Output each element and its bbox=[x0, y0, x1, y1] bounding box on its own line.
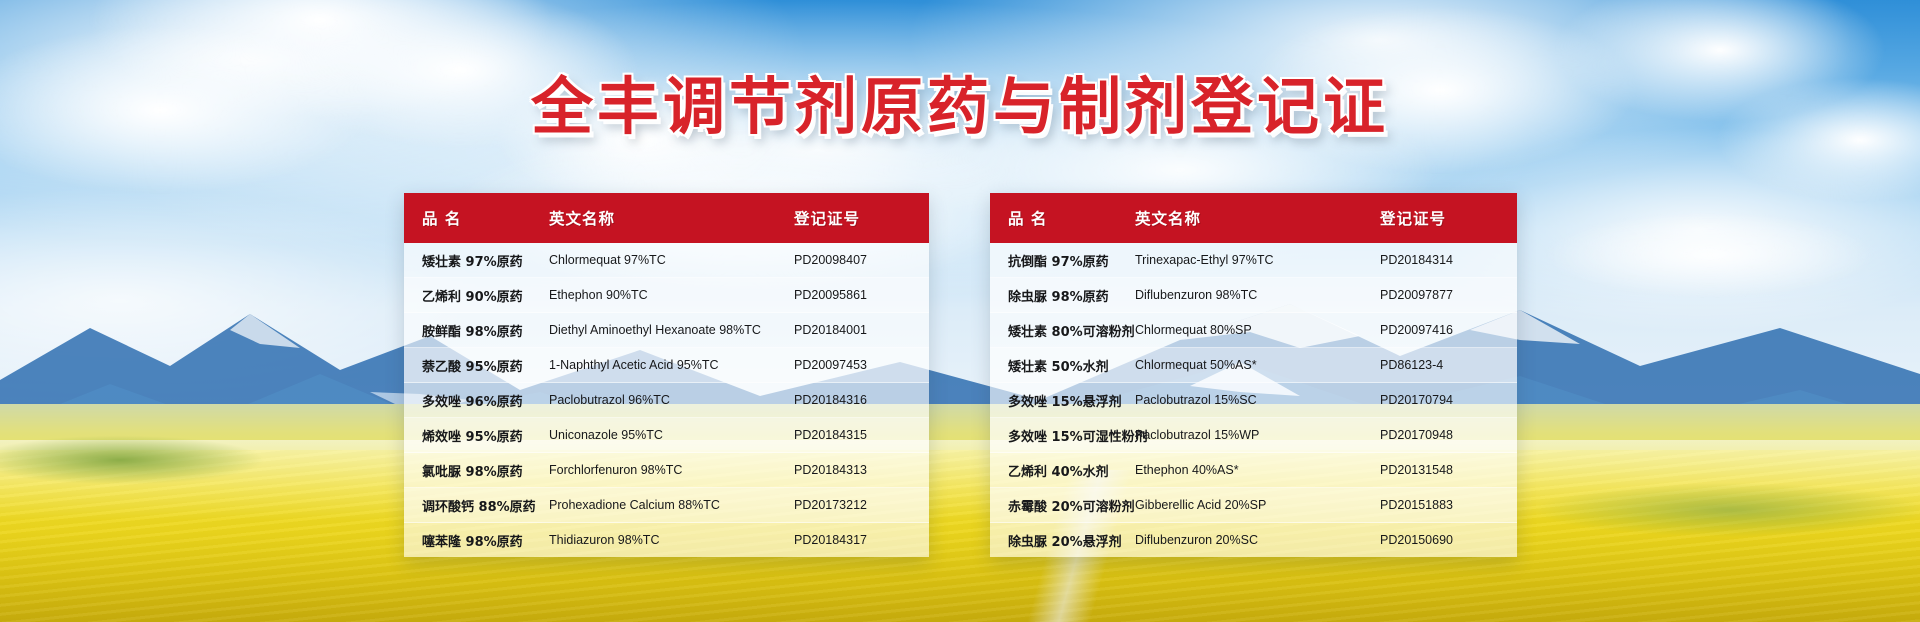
cell-product-name: 除虫脲 20%悬浮剂 bbox=[990, 531, 1135, 550]
table-left: 品 名英文名称登记证号矮壮素 97%原药Chlormequat 97%TCPD2… bbox=[404, 193, 929, 557]
cell-english-name: Diflubenzuron 20%SC bbox=[1135, 533, 1380, 547]
table-row[interactable]: 胺鲜酯 98%原药Diethyl Aminoethyl Hexanoate 98… bbox=[404, 313, 929, 348]
table-row[interactable]: 萘乙酸 95%原药1-Naphthyl Acetic Acid 95%TCPD2… bbox=[404, 348, 929, 383]
cell-product-name: 多效唑 96%原药 bbox=[404, 391, 549, 410]
cell-product-name: 矮壮素 97%原药 bbox=[404, 251, 549, 270]
cell-product-name: 矮壮素 50%水剂 bbox=[990, 356, 1135, 375]
cell-product-name: 烯效唑 95%原药 bbox=[404, 426, 549, 445]
cell-product-name: 多效唑 15%可湿性粉剂 bbox=[990, 426, 1135, 445]
column-header-name: 品 名 bbox=[404, 207, 549, 229]
cell-english-name: 1-Naphthyl Acetic Acid 95%TC bbox=[549, 358, 794, 372]
cell-english-name: Prohexadione Calcium 88%TC bbox=[549, 498, 794, 512]
cell-registration-no: PD20098407 bbox=[794, 253, 929, 267]
table-row[interactable]: 多效唑 15%悬浮剂Paclobutrazol 15%SCPD20170794 bbox=[990, 383, 1517, 418]
table-body: 抗倒酯 97%原药Trinexapac-Ethyl 97%TCPD2018431… bbox=[990, 243, 1517, 557]
table-header-row: 品 名英文名称登记证号 bbox=[990, 193, 1517, 243]
cell-product-name: 乙烯利 90%原药 bbox=[404, 286, 549, 305]
table-row[interactable]: 抗倒酯 97%原药Trinexapac-Ethyl 97%TCPD2018431… bbox=[990, 243, 1517, 278]
cell-product-name: 萘乙酸 95%原药 bbox=[404, 356, 549, 375]
cell-registration-no: PD20184316 bbox=[794, 393, 929, 407]
cell-english-name: Trinexapac-Ethyl 97%TC bbox=[1135, 253, 1380, 267]
table-row[interactable]: 多效唑 15%可湿性粉剂Paclobutrazol 15%WPPD2017094… bbox=[990, 418, 1517, 453]
table-row[interactable]: 矮壮素 50%水剂Chlormequat 50%AS*PD86123-4 bbox=[990, 348, 1517, 383]
cell-registration-no: PD20095861 bbox=[794, 288, 929, 302]
cell-registration-no: PD20170794 bbox=[1380, 393, 1515, 407]
table-header-row: 品 名英文名称登记证号 bbox=[404, 193, 929, 243]
column-header-english: 英文名称 bbox=[1135, 207, 1380, 229]
cell-registration-no: PD20184315 bbox=[794, 428, 929, 442]
cell-english-name: Ethephon 40%AS* bbox=[1135, 463, 1380, 477]
cell-registration-no: PD20150690 bbox=[1380, 533, 1515, 547]
column-header-name: 品 名 bbox=[990, 207, 1135, 229]
cell-english-name: Chlormequat 50%AS* bbox=[1135, 358, 1380, 372]
cell-english-name: Chlormequat 97%TC bbox=[549, 253, 794, 267]
cell-product-name: 氯吡脲 98%原药 bbox=[404, 461, 549, 480]
page-title: 全丰调节剂原药与制剂登记证 bbox=[531, 56, 1389, 146]
cell-registration-no: PD20184317 bbox=[794, 533, 929, 547]
table-row[interactable]: 矮壮素 97%原药Chlormequat 97%TCPD20098407 bbox=[404, 243, 929, 278]
column-header-english: 英文名称 bbox=[549, 207, 794, 229]
cell-registration-no: PD20151883 bbox=[1380, 498, 1515, 512]
cell-english-name: Paclobutrazol 15%SC bbox=[1135, 393, 1380, 407]
table-row[interactable]: 乙烯利 90%原药Ethephon 90%TCPD20095861 bbox=[404, 278, 929, 313]
cell-product-name: 调环酸钙 88%原药 bbox=[404, 496, 549, 515]
cell-product-name: 抗倒酯 97%原药 bbox=[990, 251, 1135, 270]
cell-registration-no: PD20173212 bbox=[794, 498, 929, 512]
cell-english-name: Thidiazuron 98%TC bbox=[549, 533, 794, 547]
table-right: 品 名英文名称登记证号抗倒酯 97%原药Trinexapac-Ethyl 97%… bbox=[990, 193, 1517, 557]
table-row[interactable]: 乙烯利 40%水剂Ethephon 40%AS*PD20131548 bbox=[990, 453, 1517, 488]
table-row[interactable]: 噻苯隆 98%原药Thidiazuron 98%TCPD20184317 bbox=[404, 523, 929, 557]
cell-registration-no: PD20097877 bbox=[1380, 288, 1515, 302]
column-header-registration: 登记证号 bbox=[794, 207, 929, 229]
cell-english-name: Ethephon 90%TC bbox=[549, 288, 794, 302]
cell-registration-no: PD20131548 bbox=[1380, 463, 1515, 477]
table-row[interactable]: 氯吡脲 98%原药Forchlorfenuron 98%TCPD20184313 bbox=[404, 453, 929, 488]
table-row[interactable]: 烯效唑 95%原药Uniconazole 95%TCPD20184315 bbox=[404, 418, 929, 453]
green-patch-left bbox=[0, 430, 360, 490]
table-row[interactable]: 赤霉酸 20%可溶粉剂Gibberellic Acid 20%SPPD20151… bbox=[990, 488, 1517, 523]
cell-english-name: Paclobutrazol 96%TC bbox=[549, 393, 794, 407]
cell-product-name: 赤霉酸 20%可溶粉剂 bbox=[990, 496, 1135, 515]
column-header-registration: 登记证号 bbox=[1380, 207, 1515, 229]
banner-stage: 全丰调节剂原药与制剂登记证 品 名英文名称登记证号矮壮素 97%原药Chlorm… bbox=[0, 0, 1920, 622]
cell-english-name: Gibberellic Acid 20%SP bbox=[1135, 498, 1380, 512]
table-row[interactable]: 调环酸钙 88%原药Prohexadione Calcium 88%TCPD20… bbox=[404, 488, 929, 523]
cell-product-name: 胺鲜酯 98%原药 bbox=[404, 321, 549, 340]
cell-product-name: 矮壮素 80%可溶粉剂 bbox=[990, 321, 1135, 340]
cell-registration-no: PD20184314 bbox=[1380, 253, 1515, 267]
cell-product-name: 噻苯隆 98%原药 bbox=[404, 531, 549, 550]
cell-english-name: Paclobutrazol 15%WP bbox=[1135, 428, 1380, 442]
cell-english-name: Uniconazole 95%TC bbox=[549, 428, 794, 442]
cell-registration-no: PD20184001 bbox=[794, 323, 929, 337]
cell-product-name: 除虫脲 98%原药 bbox=[990, 286, 1135, 305]
table-row[interactable]: 多效唑 96%原药Paclobutrazol 96%TCPD20184316 bbox=[404, 383, 929, 418]
cell-registration-no: PD20184313 bbox=[794, 463, 929, 477]
table-row[interactable]: 除虫脲 20%悬浮剂Diflubenzuron 20%SCPD20150690 bbox=[990, 523, 1517, 557]
table-row[interactable]: 除虫脲 98%原药Diflubenzuron 98%TCPD20097877 bbox=[990, 278, 1517, 313]
cell-registration-no: PD86123-4 bbox=[1380, 358, 1515, 372]
cell-registration-no: PD20170948 bbox=[1380, 428, 1515, 442]
cell-english-name: Chlormequat 80%SP bbox=[1135, 323, 1380, 337]
table-row[interactable]: 矮壮素 80%可溶粉剂Chlormequat 80%SPPD20097416 bbox=[990, 313, 1517, 348]
cell-registration-no: PD20097453 bbox=[794, 358, 929, 372]
cell-english-name: Diflubenzuron 98%TC bbox=[1135, 288, 1380, 302]
cell-registration-no: PD20097416 bbox=[1380, 323, 1515, 337]
cell-english-name: Forchlorfenuron 98%TC bbox=[549, 463, 794, 477]
cell-product-name: 多效唑 15%悬浮剂 bbox=[990, 391, 1135, 410]
cell-product-name: 乙烯利 40%水剂 bbox=[990, 461, 1135, 480]
cell-english-name: Diethyl Aminoethyl Hexanoate 98%TC bbox=[549, 323, 794, 337]
table-body: 矮壮素 97%原药Chlormequat 97%TCPD20098407乙烯利 … bbox=[404, 243, 929, 557]
banner-title-wrap: 全丰调节剂原药与制剂登记证 bbox=[0, 56, 1920, 146]
